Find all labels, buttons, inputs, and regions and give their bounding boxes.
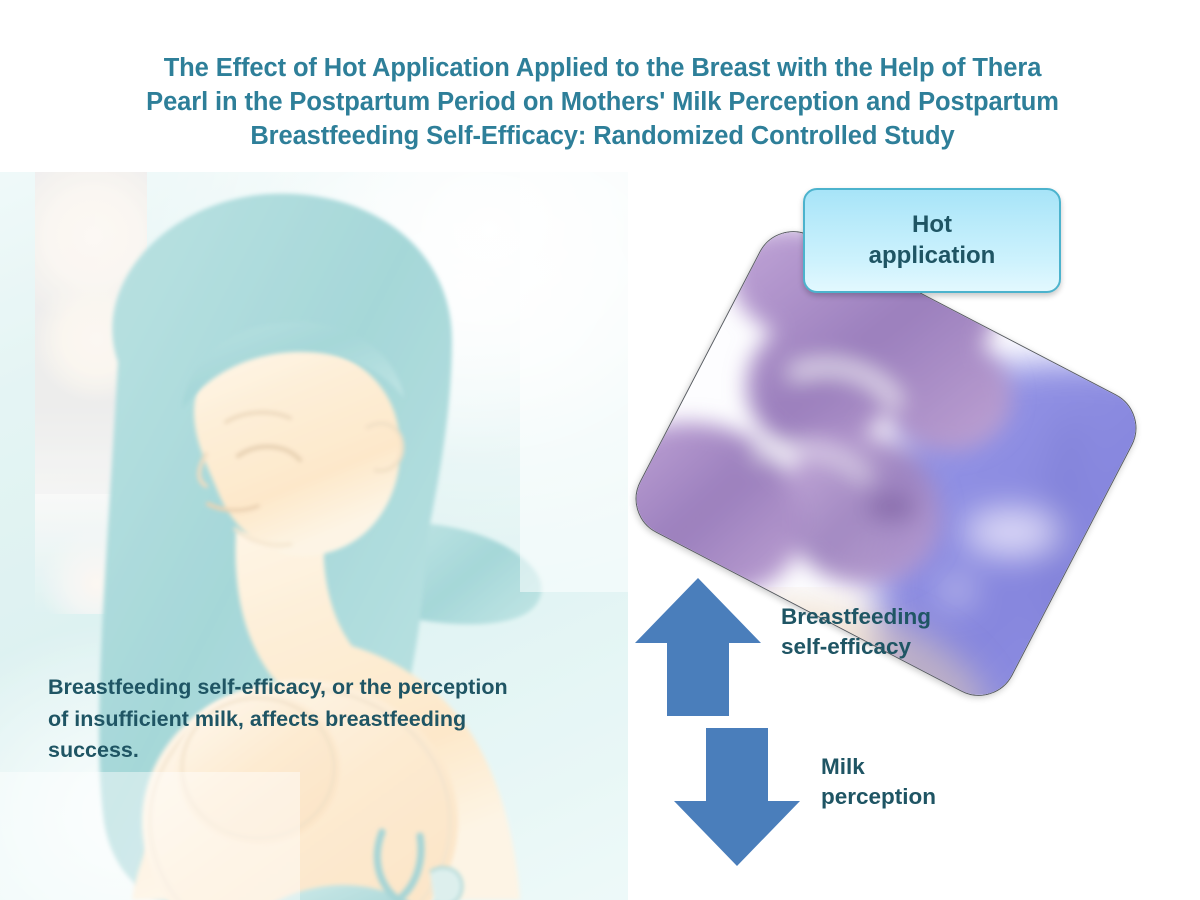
body-line-2: of insufficient milk, affects breastfeed… — [48, 704, 618, 736]
title-line-2: Pearl in the Postpartum Period on Mother… — [60, 86, 1145, 120]
outcome-milk-line-1: Milk — [821, 752, 1051, 782]
pregnant-mother-illustration — [0, 172, 628, 900]
title-line-1: The Effect of Hot Application Applied to… — [60, 52, 1145, 86]
page-title: The Effect of Hot Application Applied to… — [60, 52, 1145, 154]
body-line-3: success. — [48, 735, 618, 767]
illustration-panel: Breastfeeding self-efficacy, or the perc… — [0, 172, 628, 900]
title-line-3: Breastfeeding Self-Efficacy: Randomized … — [60, 120, 1145, 154]
body-paragraph: Breastfeeding self-efficacy, or the perc… — [48, 672, 618, 767]
arrow-up-icon — [633, 576, 763, 718]
outcome-label-milk-perception: Milk perception — [821, 752, 1051, 813]
callout-line-1: Hot — [869, 210, 996, 240]
body-line-1: Breastfeeding self-efficacy, or the perc… — [48, 672, 618, 704]
arrow-down-icon — [672, 726, 802, 868]
outcome-bse-line-1: Breastfeeding — [781, 602, 1031, 632]
callout-line-2: application — [869, 241, 996, 271]
outcome-bse-line-2: self-efficacy — [781, 632, 1031, 662]
outcome-milk-line-2: perception — [821, 782, 1051, 812]
hot-application-callout[interactable]: Hot application — [803, 188, 1061, 293]
outcome-label-breastfeeding-self-efficacy: Breastfeeding self-efficacy — [781, 602, 1031, 663]
